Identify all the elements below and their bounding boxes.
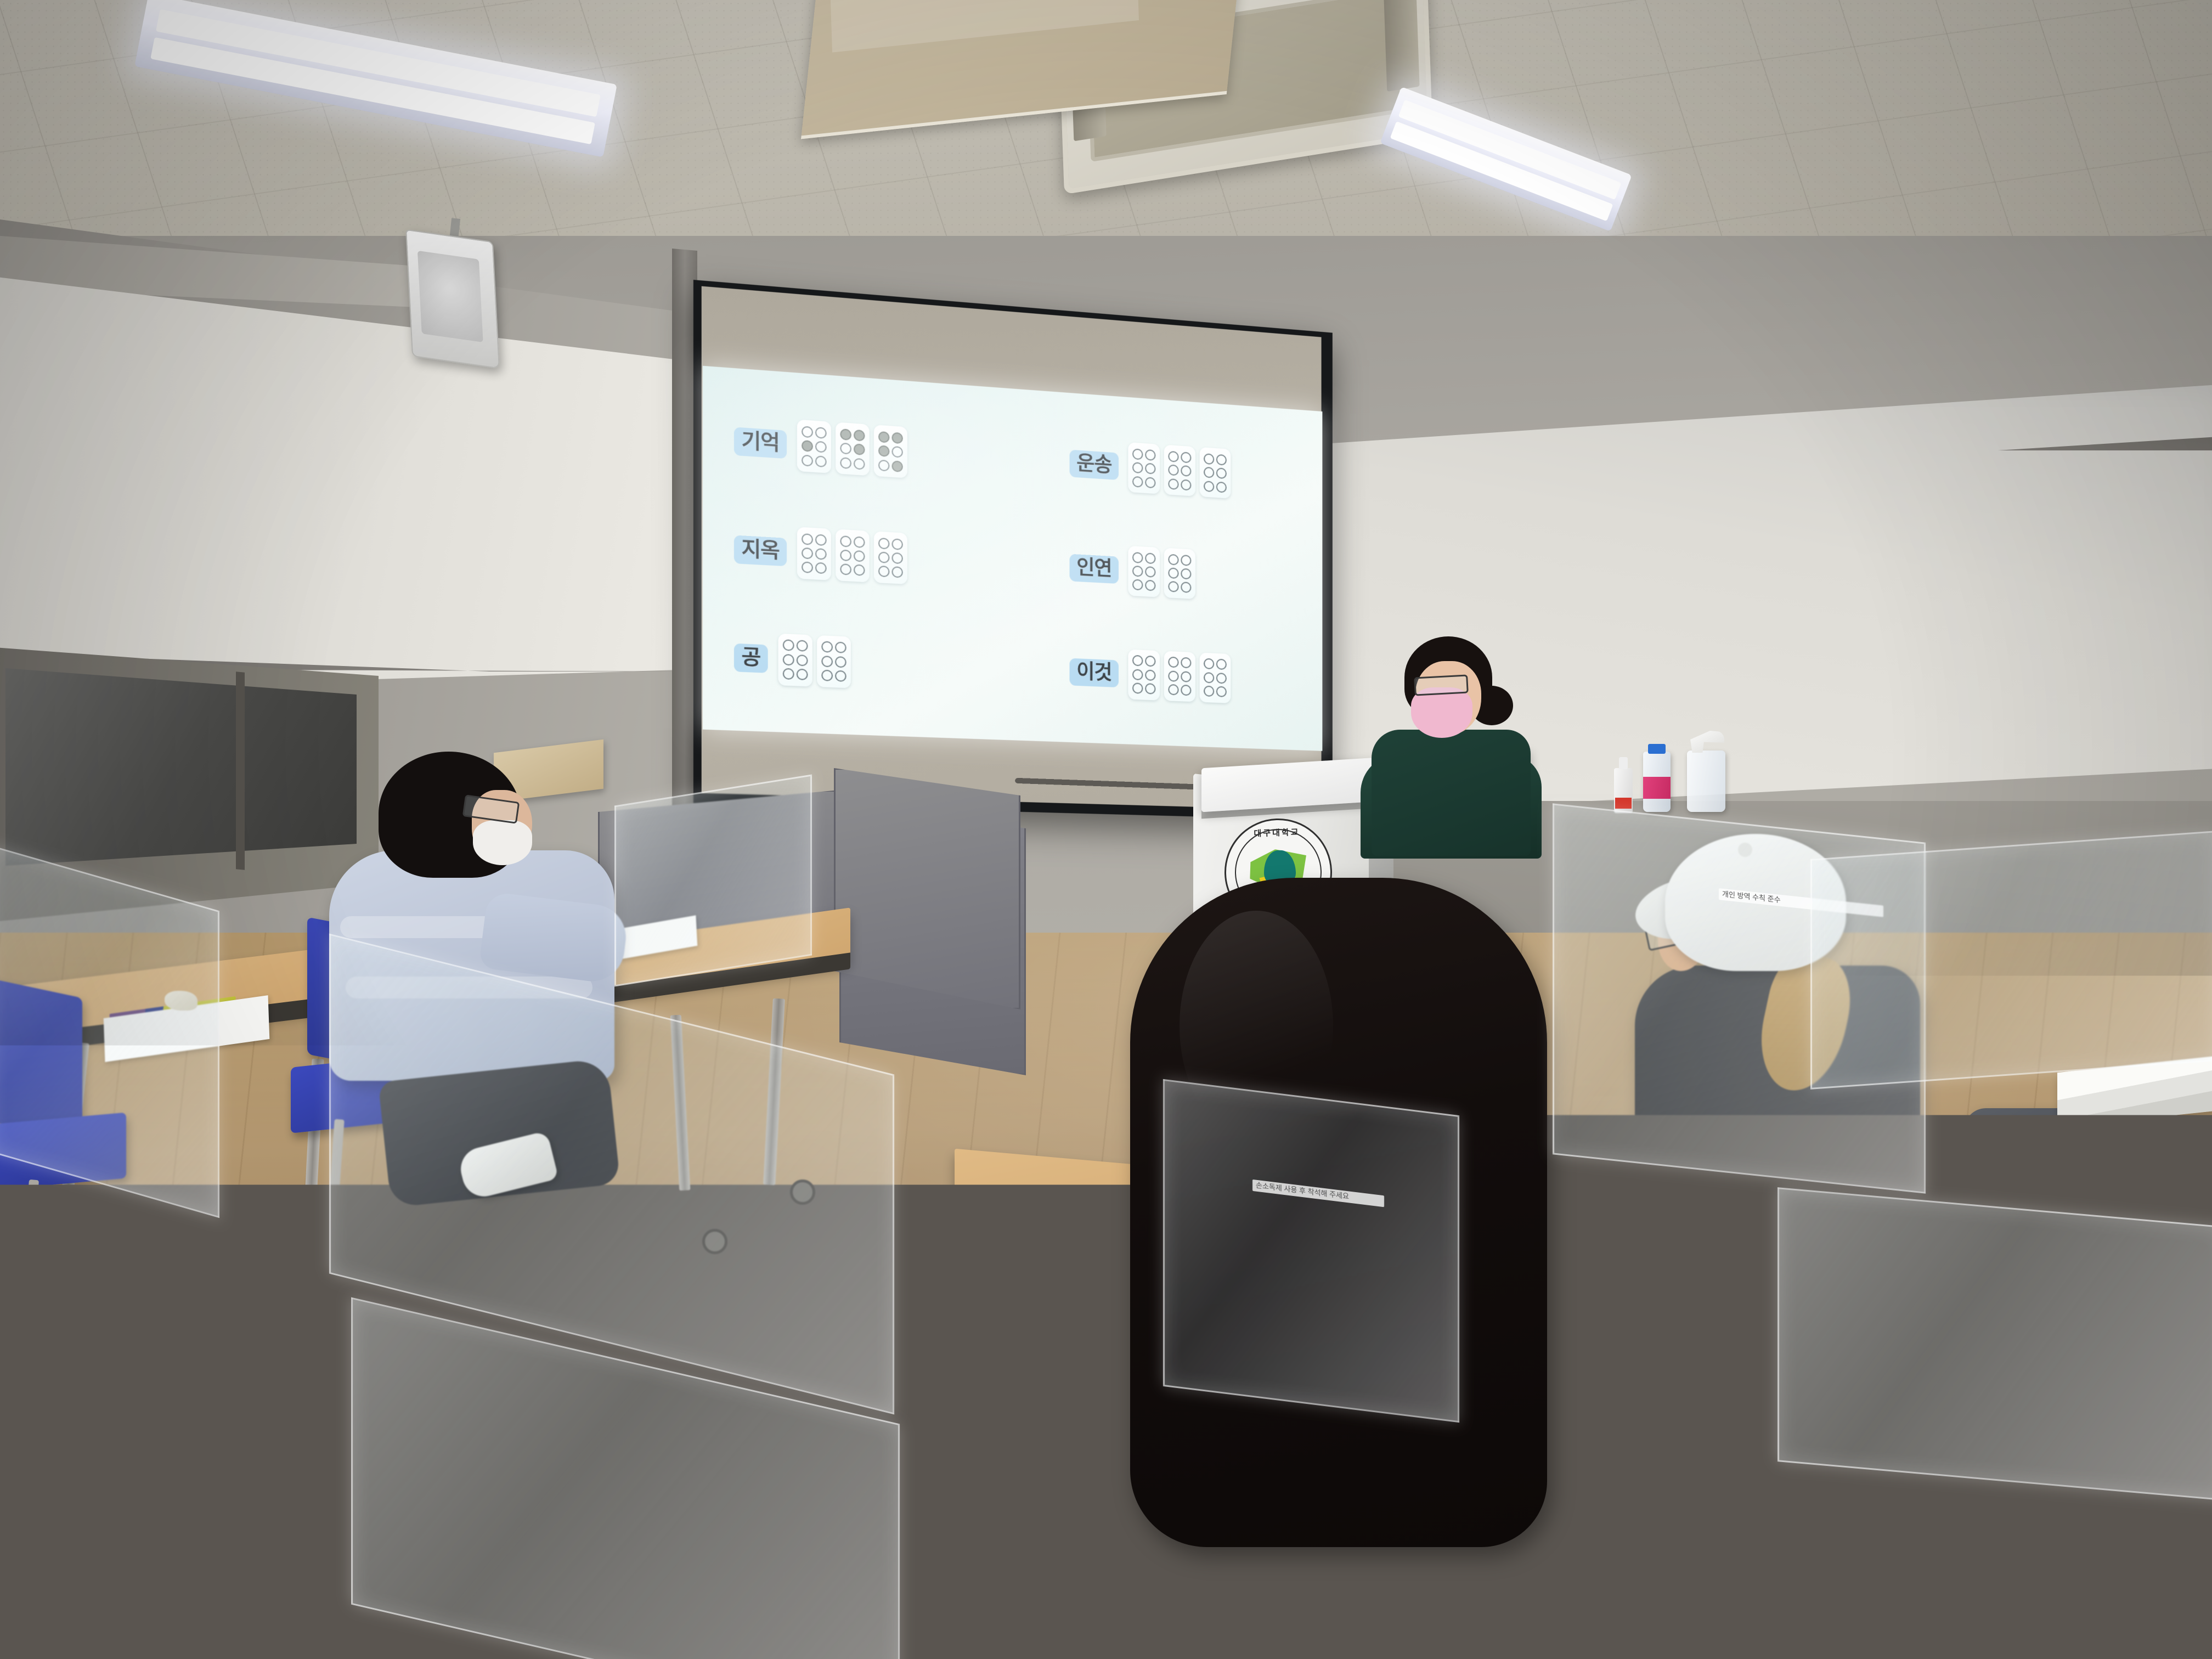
- slide-word-ball-zero: 공: [720, 630, 1023, 695]
- braille-dot: [840, 535, 851, 548]
- braille-dot: [840, 563, 851, 575]
- braille-dot: [1169, 567, 1179, 579]
- braille-dot: [1169, 451, 1179, 462]
- water-bottle[interactable]: [1643, 752, 1671, 812]
- acrylic-partition-left-mid: [614, 774, 812, 986]
- braille-cell: [797, 527, 831, 580]
- braille-dot: [840, 443, 851, 455]
- braille-cell: [1164, 548, 1195, 600]
- braille-dot: [854, 458, 865, 470]
- presenter-glasses: [1414, 674, 1469, 696]
- slide-word-label: 기억: [734, 427, 787, 459]
- braille-cell-group: [1128, 546, 1195, 599]
- mini-spray-bottle[interactable]: [1614, 768, 1633, 813]
- projected-slide: 기억운송지옥인연공이것: [703, 366, 1323, 751]
- braille-dot: [1216, 454, 1227, 466]
- student-left-face-mask: [473, 820, 532, 865]
- braille-dot: [892, 552, 903, 564]
- chair-caster: [71, 1333, 97, 1358]
- braille-dot: [1169, 670, 1179, 681]
- braille-dot: [1132, 448, 1143, 460]
- braille-dot: [840, 428, 851, 441]
- braille-dot: [1132, 462, 1143, 473]
- braille-dot: [878, 459, 889, 471]
- braille-dot: [878, 431, 889, 443]
- braille-dot: [1132, 476, 1143, 487]
- braille-dot: [1145, 477, 1155, 488]
- braille-dot: [815, 534, 827, 546]
- braille-dot: [892, 446, 903, 458]
- braille-dot: [821, 670, 833, 681]
- braille-cell: [1200, 447, 1231, 499]
- braille-cell: [836, 422, 870, 476]
- braille-dot: [1145, 669, 1155, 681]
- braille-dot: [1169, 657, 1179, 668]
- braille-dot: [854, 536, 865, 548]
- braille-dot: [1204, 686, 1214, 697]
- bottle-cap: [1648, 744, 1666, 754]
- braille-dot: [797, 640, 808, 652]
- slide-word-fate-connection: 인연: [1023, 540, 1307, 605]
- slide-word-label: 인연: [1070, 554, 1119, 584]
- braille-dot: [1216, 673, 1227, 684]
- braille-dot: [835, 656, 847, 668]
- braille-dot: [1204, 467, 1214, 478]
- braille-dot: [821, 641, 833, 653]
- bottle-label: [1643, 777, 1671, 799]
- braille-dot: [878, 445, 889, 458]
- braille-dot: [1132, 682, 1143, 694]
- braille-dot: [783, 640, 794, 651]
- braille-dot: [1132, 579, 1143, 591]
- braille-cell: [1164, 651, 1195, 702]
- slide-word-label: 공: [734, 643, 768, 673]
- braille-dot: [1181, 568, 1191, 580]
- braille-dot: [802, 426, 813, 438]
- braille-dot: [815, 427, 827, 439]
- braille-dot: [815, 455, 827, 467]
- braille-dot: [1169, 684, 1179, 695]
- braille-dot: [1181, 555, 1191, 566]
- braille-dot: [1132, 655, 1143, 667]
- braille-cell: [778, 633, 812, 686]
- braille-dot: [892, 460, 903, 472]
- braille-cell: [836, 529, 870, 582]
- braille-dot: [802, 533, 813, 545]
- braille-cell-group: [797, 527, 907, 584]
- braille-dot: [815, 562, 827, 574]
- braille-cell: [1164, 445, 1195, 496]
- spray-label: [1615, 798, 1632, 809]
- presenter-torso: [1372, 730, 1531, 856]
- braille-dot: [1145, 580, 1155, 591]
- slide-word-label: 이것: [1070, 658, 1119, 687]
- braille-dot: [797, 654, 808, 666]
- braille-cell: [1200, 652, 1231, 703]
- braille-cell-group: [797, 420, 907, 478]
- window-glass: [5, 668, 357, 866]
- slide-word-transport: 운송: [1023, 435, 1307, 504]
- braille-dot: [1169, 554, 1179, 565]
- braille-dot: [1181, 657, 1191, 668]
- braille-dot: [1181, 479, 1191, 490]
- braille-dot: [1181, 465, 1191, 477]
- braille-dot: [1169, 465, 1179, 476]
- braille-cell-group: [778, 633, 851, 688]
- braille-dot: [783, 654, 794, 665]
- braille-dot: [1216, 686, 1227, 697]
- braille-dot: [840, 457, 851, 469]
- braille-dot: [1132, 566, 1143, 577]
- acrylic-partition-foreground-center[interactable]: 손소독제 사용 후 착석해 주세요: [1163, 1079, 1459, 1423]
- braille-dot: [1204, 672, 1214, 683]
- braille-dot: [878, 538, 889, 549]
- braille-cell-group: [1128, 649, 1231, 703]
- slide-word-label: 운송: [1070, 450, 1119, 481]
- braille-dot: [892, 432, 903, 444]
- acrylic-partition-far-right: [1810, 831, 2212, 1090]
- slide-word-hell: 지옥: [720, 522, 1023, 590]
- braille-dot: [1145, 463, 1155, 475]
- cubicle-partition-right: [834, 768, 1020, 1009]
- braille-cell: [874, 425, 907, 478]
- braille-dot: [1169, 478, 1179, 490]
- braille-cell: [817, 635, 851, 688]
- braille-dot: [1216, 659, 1227, 670]
- classroom-photo: 기억운송지옥인연공이것: [0, 0, 2212, 1659]
- spray-nozzle: [1619, 757, 1628, 769]
- braille-dot: [878, 566, 889, 577]
- braille-dot: [835, 642, 847, 653]
- braille-dot: [854, 550, 865, 562]
- braille-cell: [797, 420, 831, 473]
- braille-dot: [1145, 683, 1155, 695]
- braille-dot: [802, 440, 813, 452]
- braille-dot: [797, 669, 808, 680]
- braille-dot: [854, 565, 865, 576]
- braille-dot: [1132, 552, 1143, 563]
- braille-cell: [1128, 442, 1160, 494]
- acrylic-partition-right-lower: [1778, 1187, 2212, 1501]
- projection-screen: 기억운송지옥인연공이것: [693, 280, 1333, 820]
- braille-dot: [802, 454, 813, 466]
- slide-word-memory: 기억: [720, 414, 1023, 486]
- braille-dot: [783, 668, 794, 680]
- braille-dot: [802, 562, 813, 574]
- wall-speaker: [405, 229, 500, 369]
- braille-dot: [1204, 481, 1214, 492]
- braille-dot: [878, 551, 889, 563]
- braille-dot: [815, 548, 827, 560]
- slide-word-label: 지옥: [734, 535, 787, 566]
- braille-dot: [835, 670, 847, 682]
- braille-cell: [1128, 546, 1160, 597]
- braille-dot: [1181, 582, 1191, 594]
- window-mullion: [236, 672, 245, 870]
- braille-dot: [840, 550, 851, 562]
- braille-dot: [1145, 656, 1155, 667]
- braille-dot: [1145, 552, 1155, 564]
- braille-dot: [1145, 449, 1155, 461]
- braille-dot: [1216, 468, 1227, 479]
- braille-cell: [874, 531, 907, 584]
- braille-dot: [1145, 566, 1155, 578]
- braille-dot: [821, 656, 833, 667]
- braille-dot: [892, 538, 903, 550]
- braille-dot: [1204, 453, 1214, 465]
- braille-dot: [1181, 671, 1191, 682]
- braille-cell: [1128, 649, 1160, 700]
- braille-dot: [854, 444, 865, 456]
- braille-dot: [892, 566, 903, 578]
- braille-dot: [1204, 658, 1214, 669]
- braille-dot: [815, 441, 827, 453]
- braille-dot: [802, 548, 813, 560]
- braille-cell-group: [1128, 442, 1231, 499]
- braille-dot: [1169, 581, 1179, 592]
- braille-dot: [1216, 481, 1227, 493]
- desk-caster: [181, 1355, 206, 1380]
- braille-dot: [1181, 685, 1191, 696]
- partition-note-left: 손소독제 사용 후 착석해 주세요: [1252, 1180, 1384, 1207]
- logo-korean-text: 대구대학교: [1254, 826, 1300, 839]
- hand-sanitizer-bottle[interactable]: [1687, 751, 1725, 812]
- braille-dot: [1132, 669, 1143, 680]
- braille-dot: [854, 430, 865, 442]
- slide-word-this-thing: 이것: [1023, 645, 1307, 707]
- braille-dot: [1181, 452, 1191, 463]
